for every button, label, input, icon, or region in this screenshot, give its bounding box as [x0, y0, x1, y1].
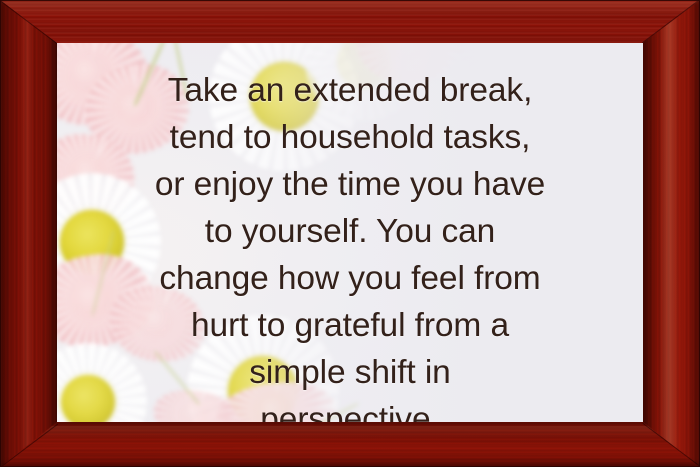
- frame-sheen: [0, 426, 700, 438]
- frame-rail-right: [643, 0, 700, 467]
- frame-sheen: [0, 2, 700, 16]
- frame-rail-left: [0, 0, 57, 467]
- quote-image: Take an extended break, tend to househol…: [0, 0, 700, 467]
- framed-photo: Take an extended break, tend to househol…: [57, 43, 643, 422]
- quote-text: Take an extended break, tend to househol…: [57, 67, 643, 422]
- frame-rail-bottom: [0, 422, 700, 467]
- frame-sheen: [659, 0, 679, 467]
- frame-rail-top: [0, 0, 700, 43]
- frame-sheen: [20, 0, 34, 467]
